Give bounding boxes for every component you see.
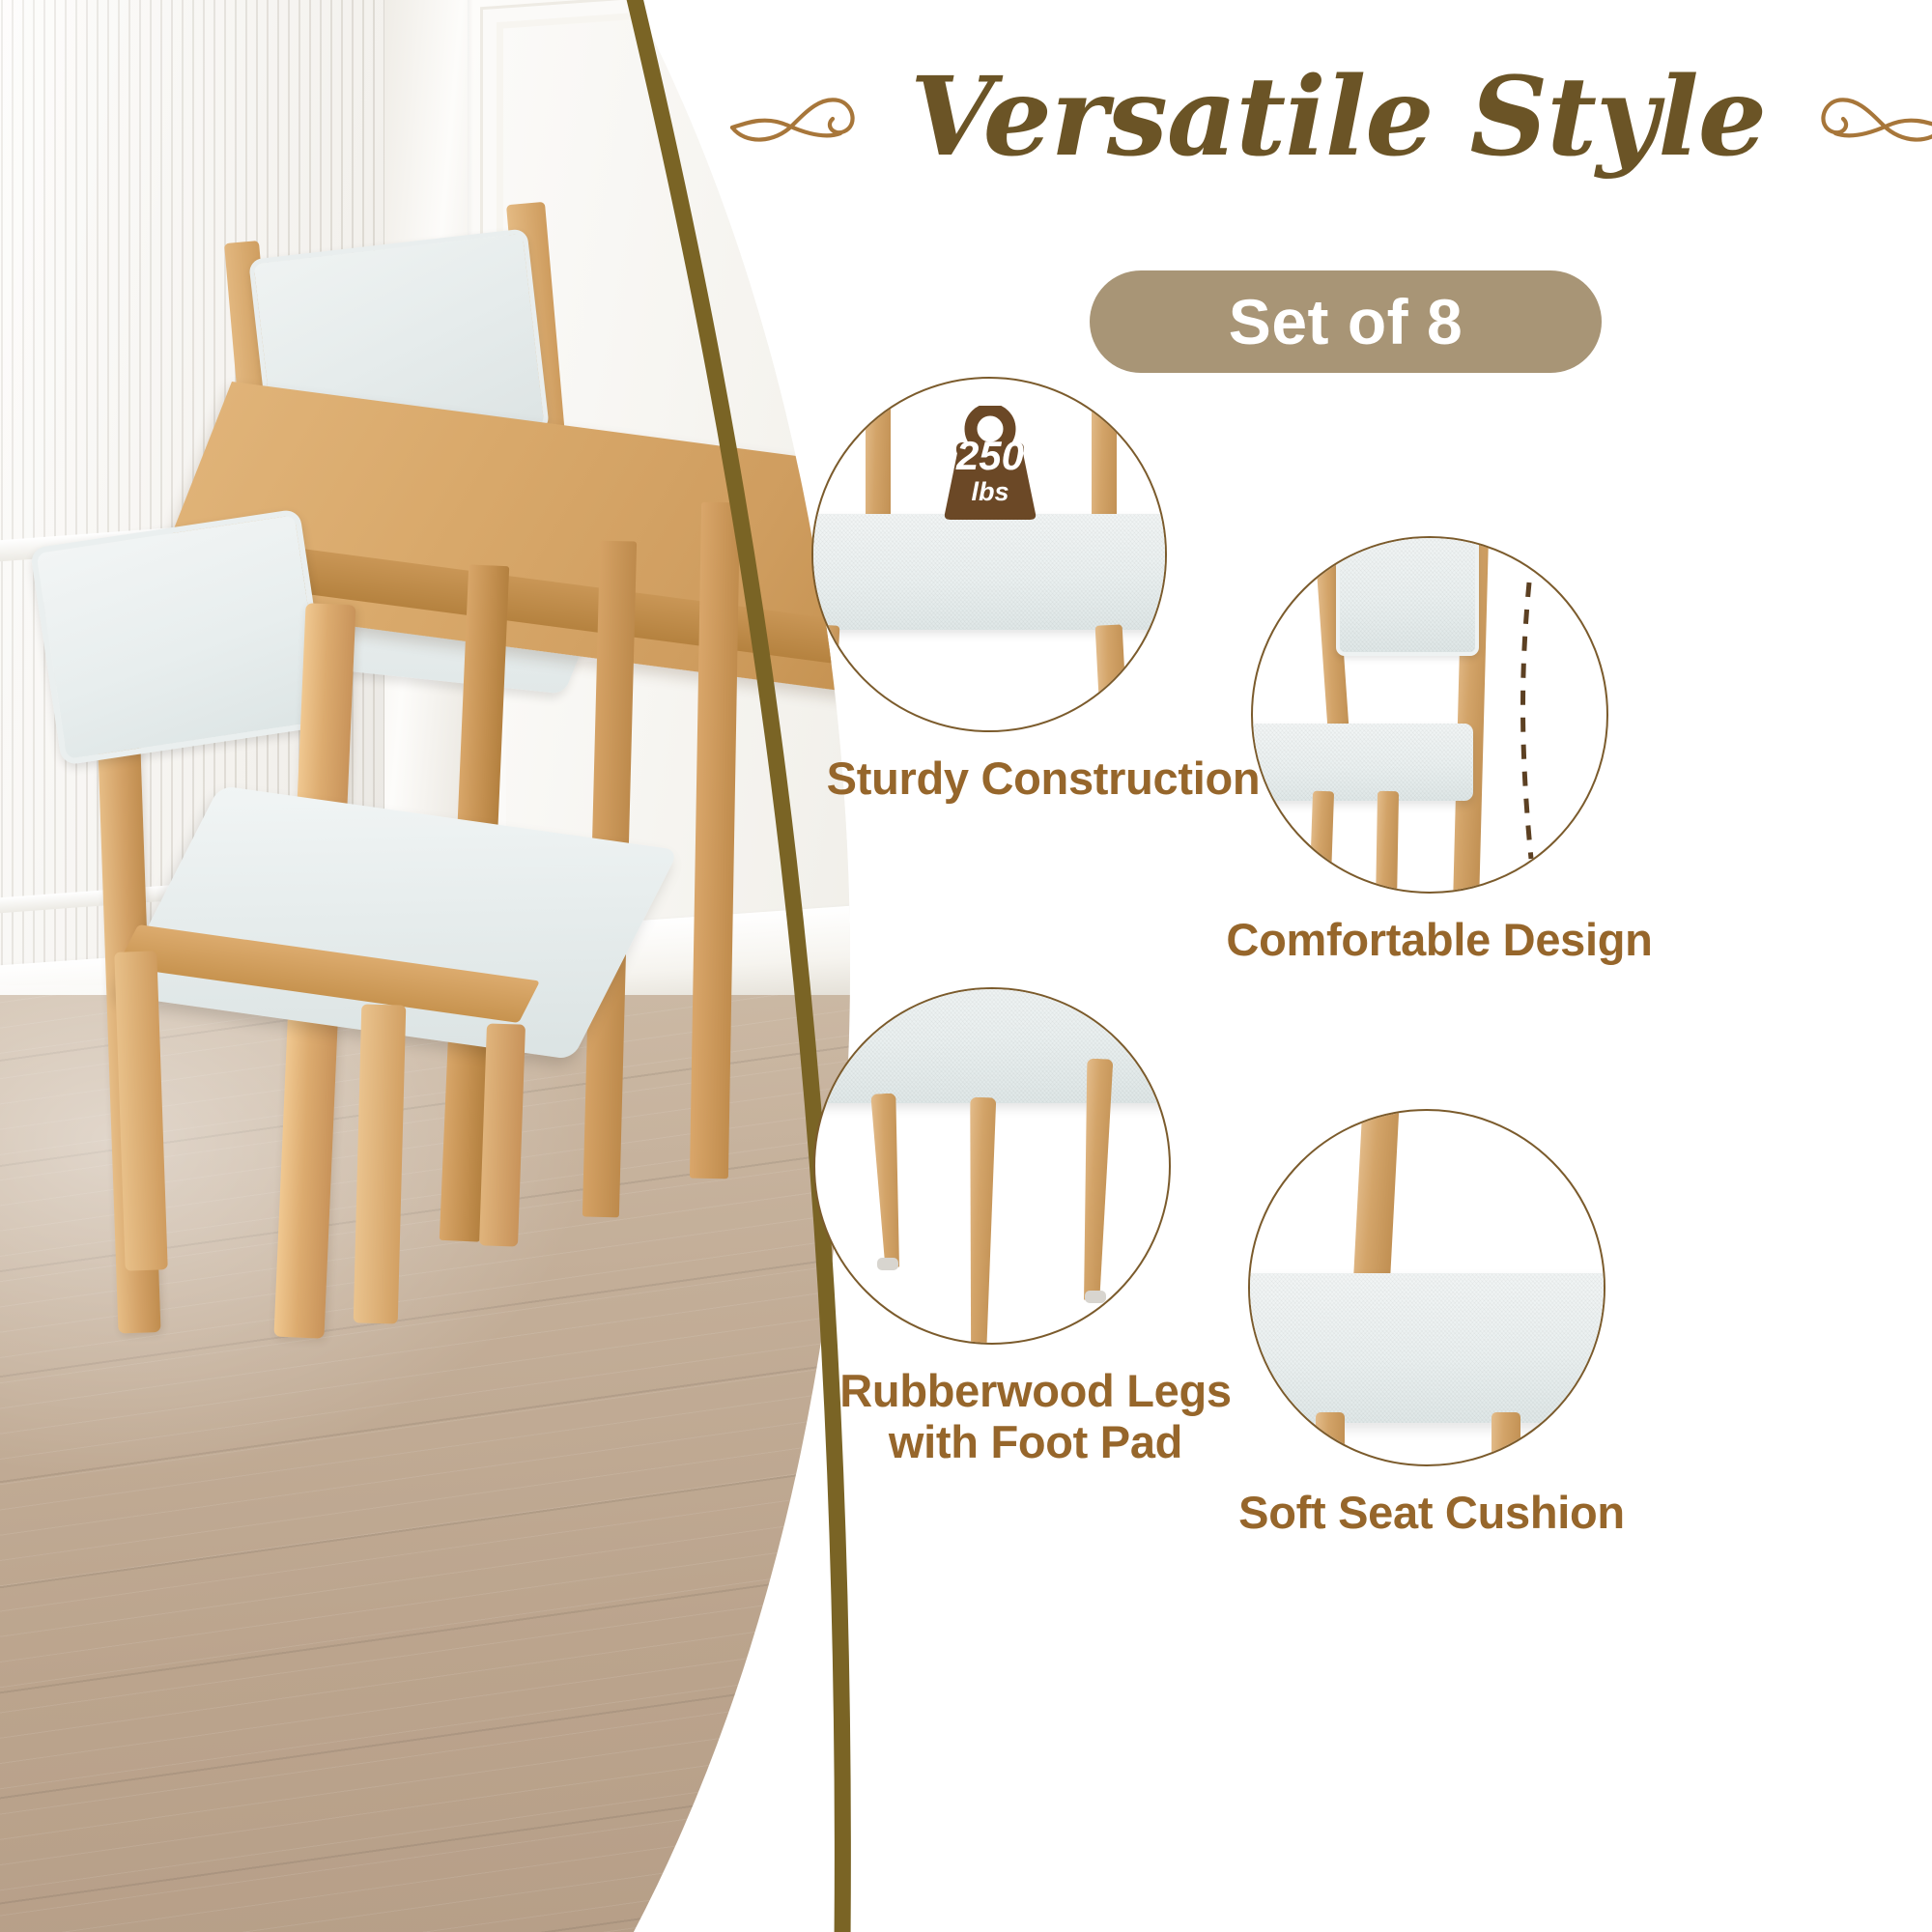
chair-front-leg-2	[1376, 791, 1399, 894]
soft-cushion	[1248, 1273, 1605, 1423]
feature-image-sturdy-construction: 250 lbs	[811, 377, 1167, 732]
rubberwood-leg-center	[966, 1097, 997, 1345]
feature-image-soft-seat-cushion	[1248, 1109, 1605, 1466]
feature-image-comfortable-design	[1251, 536, 1608, 894]
feature-rubberwood-legs: Rubberwood Legs with Foot Pad	[813, 987, 1171, 1345]
ergonomic-dashed-line-icon	[1494, 577, 1581, 867]
feature-image-rubberwood-legs	[813, 987, 1171, 1345]
foot-pad-left	[877, 1258, 898, 1270]
near-chair-leg-front-right	[354, 1004, 407, 1323]
cushion-back-post	[1353, 1109, 1400, 1286]
chair-front-leg-1	[1309, 791, 1334, 894]
weight-unit: lbs	[933, 479, 1047, 505]
weight-icon: 250 lbs	[933, 406, 1047, 520]
feature-comfortable-design: Comfortable Design	[1251, 536, 1608, 894]
feature-sturdy-construction: 250 lbs Sturdy Construction	[811, 377, 1167, 732]
cushion-leg-left	[1316, 1412, 1345, 1466]
flourish-ornament-right-icon	[1787, 83, 1932, 153]
lifestyle-photo	[0, 0, 869, 1932]
near-chair-backrest	[30, 508, 331, 765]
content-pane: Versatile Style Set of 8	[869, 0, 1932, 1932]
set-of-8-badge-label: Set of 8	[1229, 290, 1463, 354]
legs-seat-underside	[813, 987, 1171, 1103]
set-of-8-badge: Set of 8	[1090, 270, 1602, 373]
flourish-ornament-left-icon	[724, 83, 889, 153]
chair-backrest-pad	[1336, 536, 1479, 656]
weight-value: 250	[933, 436, 1047, 476]
foot-pad-right	[1085, 1291, 1106, 1303]
chair-seat-pad	[1251, 724, 1473, 801]
feature-label-soft-seat-cushion: Soft Seat Cushion	[1142, 1488, 1721, 1539]
seat-leg-left	[811, 624, 839, 732]
seat-cushion	[811, 514, 1167, 630]
rubberwood-leg-left	[870, 1093, 904, 1267]
page-title-row: Versatile Style	[744, 50, 1932, 185]
feature-soft-seat-cushion: Soft Seat Cushion	[1248, 1109, 1605, 1466]
product-infographic: Versatile Style Set of 8	[0, 0, 1932, 1932]
feature-label-comfortable-design: Comfortable Design	[1154, 915, 1724, 966]
near-chair-leg-back	[479, 1023, 526, 1246]
seat-leg-right	[1095, 624, 1129, 732]
cushion-leg-right	[1492, 1412, 1520, 1466]
page-title: Versatile Style	[910, 63, 1766, 173]
room-scene	[0, 0, 869, 1932]
